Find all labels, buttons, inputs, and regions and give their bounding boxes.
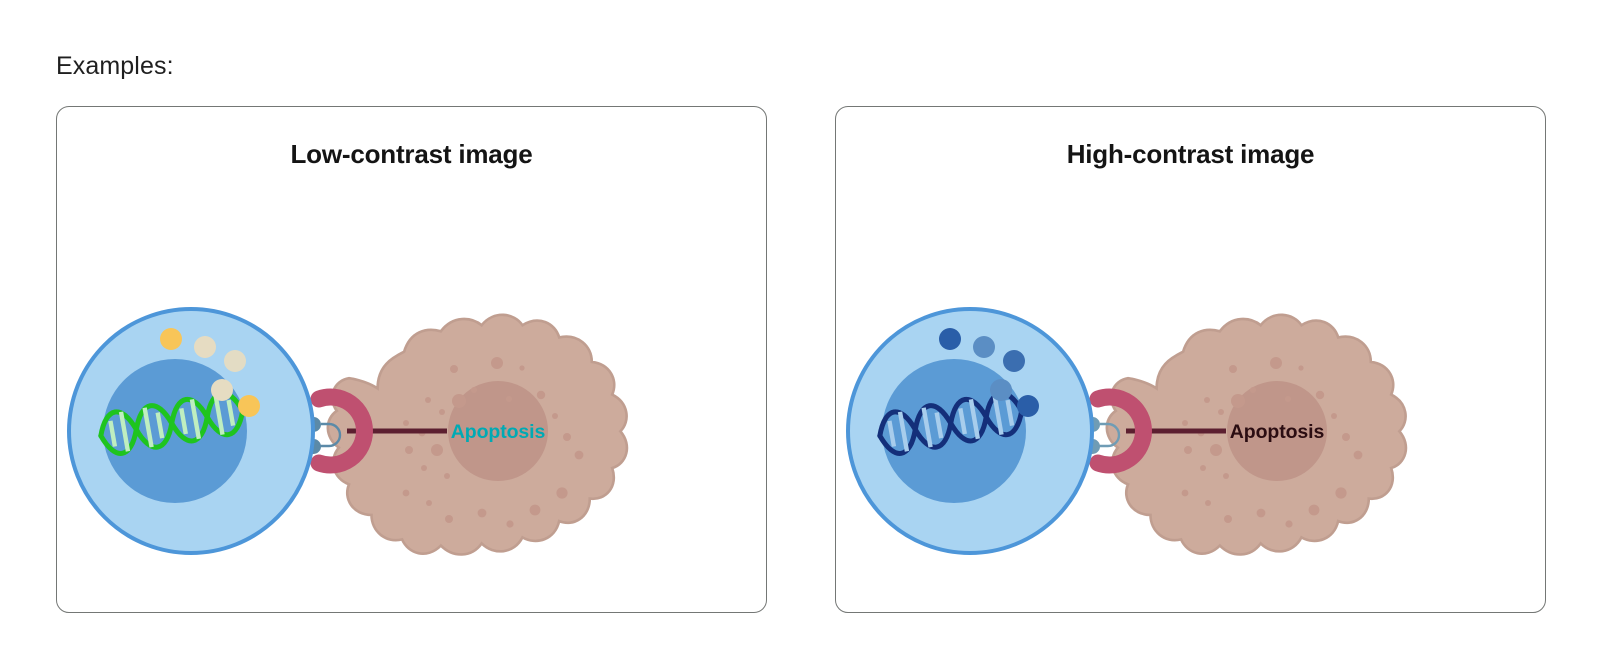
example-card-low-contrast: Low-contrast image	[56, 106, 767, 613]
example-card-high-contrast: High-contrast image	[835, 106, 1546, 613]
apoptosis-label-low: Apoptosis	[451, 421, 546, 443]
diagram-low-contrast: Apoptosis	[57, 163, 767, 613]
diagram-high-contrast: Apoptosis	[836, 163, 1546, 613]
apoptosis-label-high: Apoptosis	[1230, 421, 1325, 443]
example-cards-row: Low-contrast image	[56, 106, 1546, 613]
signaling-cell-low	[69, 309, 313, 553]
section-label: Examples:	[56, 51, 174, 81]
signaling-cell-high	[848, 309, 1092, 553]
examples-page: Examples: Low-contrast image	[0, 0, 1600, 671]
